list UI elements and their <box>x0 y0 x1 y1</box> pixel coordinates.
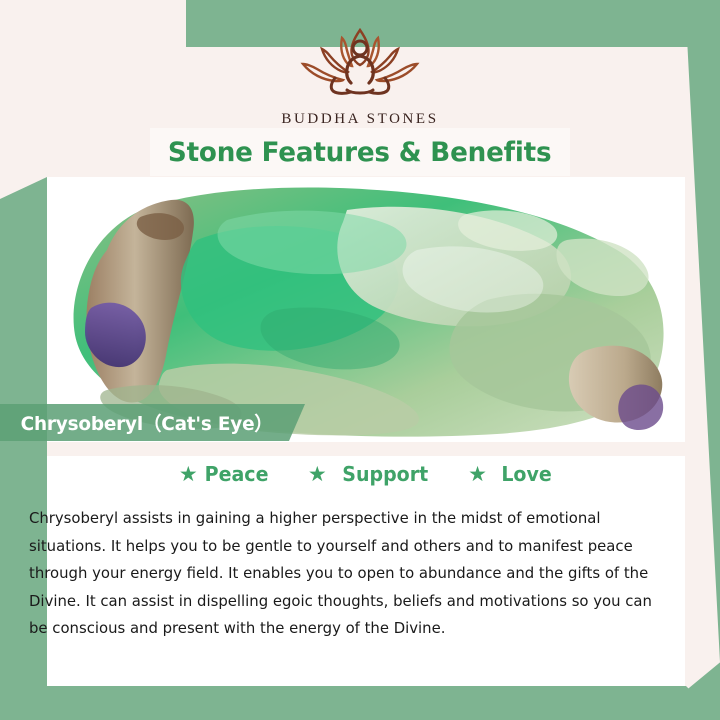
frame-band-bottom <box>0 686 720 720</box>
benefit-item-love: ★ Love <box>468 462 553 486</box>
stone-photo <box>47 180 685 442</box>
benefit-label-peace: Peace <box>204 462 268 486</box>
stone-name-text: Chrysoberyl（Cat's Eye） <box>4 409 272 436</box>
stone-name-label: Chrysoberyl（Cat's Eye） <box>0 404 305 441</box>
star-icon: ★ <box>308 464 327 485</box>
brand-name: BUDDHA STONES <box>281 111 438 128</box>
star-icon: ★ <box>468 464 487 485</box>
page-title: Stone Features & Benefits <box>168 137 551 168</box>
title-banner: Stone Features & Benefits <box>150 128 570 176</box>
star-icon: ★ <box>179 464 198 485</box>
benefit-label-support: Support <box>342 462 428 486</box>
logo-lockup: BUDDHA STONES <box>0 22 720 128</box>
benefit-label-love: Love <box>501 462 551 486</box>
benefit-item-peace: ★ Peace <box>179 462 270 486</box>
stone-description: Chrysoberyl assists in gaining a higher … <box>29 505 669 643</box>
benefit-item-support: ★ Support <box>308 462 430 486</box>
lotus-meditation-icon <box>285 22 435 105</box>
benefits-row: ★ Peace ★ Support ★ Love <box>47 462 685 486</box>
section-divider <box>47 442 685 456</box>
